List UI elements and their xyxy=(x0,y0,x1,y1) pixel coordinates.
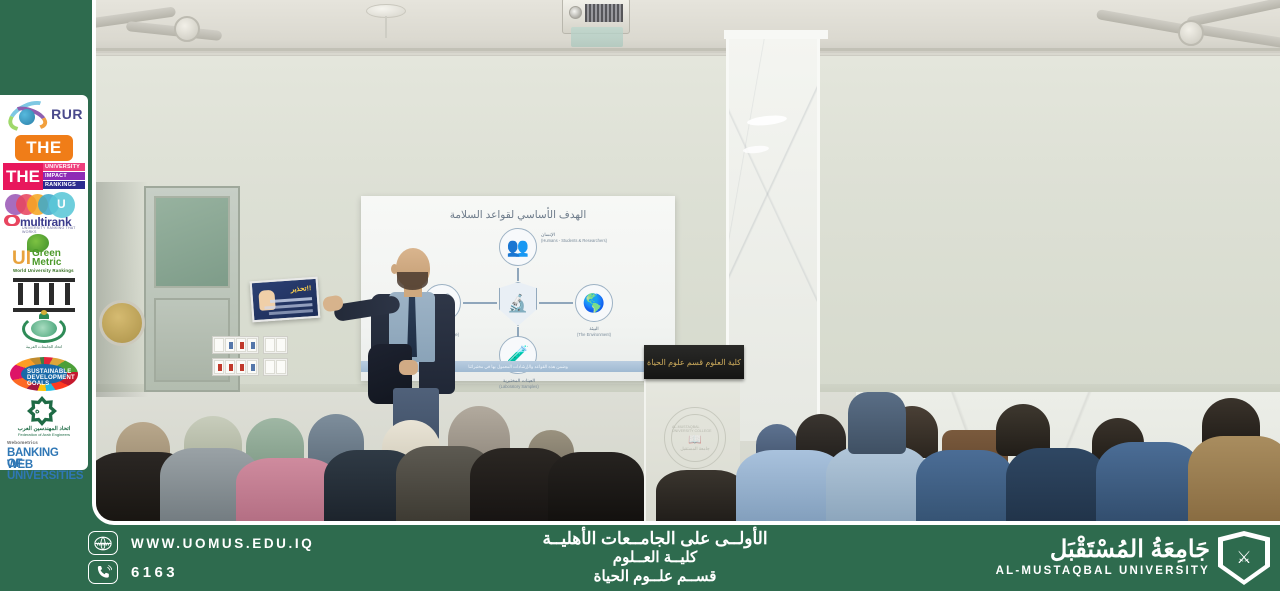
the-impact-bar-2: IMPACT xyxy=(43,172,85,180)
audience-body xyxy=(916,450,1014,525)
slide-center-shield: 🔬 xyxy=(499,282,537,326)
the-label: THE xyxy=(15,135,73,161)
page-root: RUR THE THE UNIVERSITY IMPACT RANKINGS xyxy=(0,0,1280,591)
the-impact-bar-1: UNIVERSITY xyxy=(43,163,85,171)
outlet-group-3 xyxy=(212,358,259,376)
logo-rur: RUR xyxy=(3,99,85,133)
audience-standing xyxy=(848,392,906,454)
audience-body xyxy=(1188,436,1280,525)
audience-body xyxy=(548,452,644,525)
the-impact-bar-3: RANKINGS xyxy=(43,181,85,189)
multirank-sub: UNIVERSITY RANKING THAT WORKS xyxy=(22,226,85,234)
seal-ar: جامعة المستقبل xyxy=(680,446,709,452)
logo-arab-universities: اتحاد الجامعات العربية xyxy=(3,314,85,354)
logo-ui-greenmetric: UI Green Metric World University Ranking… xyxy=(3,234,85,276)
lecture-hall-scene: الهدف الأساسي لقواعد السلامة 👥 🏙 🌎 🧪 🔬 xyxy=(96,0,1280,521)
marble-column xyxy=(726,36,820,441)
arab-universities-icon: اتحاد الجامعات العربية xyxy=(9,314,79,354)
door-shadow xyxy=(96,182,148,397)
poster-title: !!تحذير xyxy=(290,284,311,293)
poster-line-1 xyxy=(270,297,312,302)
slide-label-environment: البيئة (The Environment) xyxy=(551,326,637,337)
sdg-label: SUSTAINABLE DEVELOPMENT GOALS xyxy=(27,369,75,387)
slide-arrow-down xyxy=(517,327,519,337)
column-highlight-2 xyxy=(743,145,770,155)
multirank-icon: U multirank UNIVERSITY RANKING THAT WORK… xyxy=(3,192,85,232)
arab-engineers-label-en: Federation of Arab Engineers xyxy=(13,432,75,437)
www-globe-icon: WWW xyxy=(88,531,118,555)
outlet-group-1 xyxy=(212,336,259,354)
university-seal: AL-MUSTAQBAL UNIVERSITY COLLEGE 📖 جامعة … xyxy=(664,407,726,469)
seal-en: AL-MUSTAQBAL UNIVERSITY COLLEGE xyxy=(672,425,718,433)
footer-university-ar: جَامِعَةُ المُسْتَقْبَل xyxy=(996,537,1210,562)
slide-arrow-up xyxy=(517,268,519,281)
slide-label-samples-en: (Laboratory Samples) xyxy=(473,384,565,389)
podium-sign: كلية العلوم قسم علوم الحياة xyxy=(644,345,744,379)
slide-label-humans: الإنسان (Humans - Students & Researchers… xyxy=(541,232,627,243)
event-photo: الهدف الأساسي لقواعد السلامة 👥 🏙 🌎 🧪 🔬 xyxy=(92,0,1280,525)
webometrics-icon: Webometrics BANKING WEB OF UNIVERSITIES xyxy=(4,440,84,474)
logo-the-impact: THE UNIVERSITY IMPACT RANKINGS xyxy=(3,163,85,190)
the-impact-label: THE xyxy=(3,163,43,190)
projector-body-glass xyxy=(571,27,623,47)
university-shield-icon: ⚔ xyxy=(1218,531,1270,585)
presenter xyxy=(341,248,471,438)
rankings-rail: RUR THE THE UNIVERSITY IMPACT RANKINGS xyxy=(0,0,92,591)
arab-engineers-icon: ه اتحاد المهندسين العرب Federation of Ar… xyxy=(7,396,81,438)
footer-website-text: WWW.UOMUS.EDU.IQ xyxy=(131,536,314,551)
slide-label-samples: العينات المختبرية (Laboratory Samples) xyxy=(473,378,565,389)
projector-lens-icon xyxy=(569,6,582,19)
footer-center-text: الأولــى على الجامــعات الأهليــة كليــة… xyxy=(415,528,895,587)
rur-label: RUR xyxy=(51,106,83,122)
logo-temple xyxy=(3,278,85,312)
wall-circle-decor xyxy=(99,300,145,346)
ceiling-beam-shadow xyxy=(96,53,1280,55)
presenter-beard xyxy=(397,272,428,290)
footer-line-3: قســم علــوم الحياة xyxy=(415,568,895,587)
logo-arab-engineers: ه اتحاد المهندسين العرب Federation of Ar… xyxy=(3,396,85,438)
svg-text:WWW: WWW xyxy=(96,541,110,546)
shield-inner-glyph: ⚔ xyxy=(1236,548,1251,568)
podium-sign-text: كلية العلوم قسم علوم الحياة xyxy=(647,358,741,367)
people-icon: 👥 xyxy=(507,238,529,256)
outlet-group-4 xyxy=(263,358,288,376)
audience-body xyxy=(1006,448,1106,525)
audience-body xyxy=(656,470,746,525)
audience-body xyxy=(1096,442,1202,525)
slide-title: الهدف الأساسي لقواعد السلامة xyxy=(361,209,675,221)
slide-footer-note: وضمن هذه القواعد والإرشادات المعمول بها … xyxy=(468,364,568,370)
slide-node-humans: 👥 xyxy=(499,228,537,266)
logo-multirank: U multirank UNIVERSITY RANKING THAT WORK… xyxy=(3,192,85,232)
column-highlight-1 xyxy=(747,114,788,127)
logo-webometrics: Webometrics BANKING WEB OF UNIVERSITIES xyxy=(3,440,85,474)
column-capital xyxy=(724,30,828,39)
arab-universities-label: اتحاد الجامعات العربية xyxy=(19,344,69,349)
earth-leaf-icon: 🌎 xyxy=(583,294,605,312)
presenter-hand-holding xyxy=(399,360,418,375)
audience-body xyxy=(826,446,930,525)
rur-icon: RUR xyxy=(5,99,83,133)
door-glass xyxy=(154,196,230,288)
phone-icon xyxy=(88,560,118,584)
footer-university-en: AL-MUSTAQBAL UNIVERSITY xyxy=(996,563,1210,579)
rankings-logo-panel: RUR THE THE UNIVERSITY IMPACT RANKINGS xyxy=(0,95,88,470)
projector-vent xyxy=(585,4,623,22)
webometrics-label-2: OF UNIVERSITIES xyxy=(7,458,84,482)
footer-contact: WWW WWW.UOMUS.EDU.IQ 6163 xyxy=(88,531,418,589)
footer-university-brand: جَامِعَةُ المُسْتَقْبَل AL-MUSTAQBAL UNI… xyxy=(996,531,1270,585)
slide-node-environment: 🌎 xyxy=(575,284,613,322)
ceiling-projector xyxy=(562,0,630,34)
logo-the: THE xyxy=(3,135,85,161)
multirank-mark: U xyxy=(57,197,66,211)
poster-line-3 xyxy=(269,309,313,315)
ui-greenmetric-metric: Metric xyxy=(32,257,61,268)
sdg-icon: SUSTAINABLE DEVELOPMENT GOALS xyxy=(7,356,81,394)
wall-outlet-panel xyxy=(212,336,304,378)
footer-line-1: الأولــى على الجامــعات الأهليــة xyxy=(415,528,895,549)
ceiling-beam xyxy=(96,48,1280,51)
slide-label-humans-en: (Humans - Students & Researchers) xyxy=(541,238,627,243)
footer-university-names: جَامِعَةُ المُسْتَقْبَل AL-MUSTAQBAL UNI… xyxy=(996,537,1210,578)
warning-poster: !!تحذير xyxy=(250,277,321,323)
the-impact-icon: THE UNIVERSITY IMPACT RANKINGS xyxy=(3,163,85,190)
microscope-shield-icon: 🔬 xyxy=(507,294,528,314)
footer-bar: WWW WWW.UOMUS.EDU.IQ 6163 الأولــى على ا… xyxy=(0,525,1280,591)
outlet-group-2 xyxy=(263,336,288,354)
footer-phone-text: 6163 xyxy=(131,564,178,581)
footer-website-row[interactable]: WWW WWW.UOMUS.EDU.IQ xyxy=(88,531,418,555)
footer-phone-row[interactable]: 6163 xyxy=(88,560,418,584)
ui-greenmetric-icon: UI Green Metric World University Ranking… xyxy=(3,234,85,276)
ui-greenmetric-sub: World University Rankings xyxy=(13,268,74,273)
book-icon: 📖 xyxy=(688,433,702,446)
ui-greenmetric-u: UI xyxy=(12,248,31,270)
temple-columns-icon xyxy=(13,278,75,312)
slide-label-environment-en: (The Environment) xyxy=(551,332,637,337)
footer-line-2: كليــة العــلوم xyxy=(415,549,895,568)
smoke-detector-stem xyxy=(385,16,387,38)
webometrics-label-0: Webometrics xyxy=(7,440,38,445)
slide-arrow-right xyxy=(539,302,573,304)
logo-sdg: SUSTAINABLE DEVELOPMENT GOALS xyxy=(3,356,85,394)
